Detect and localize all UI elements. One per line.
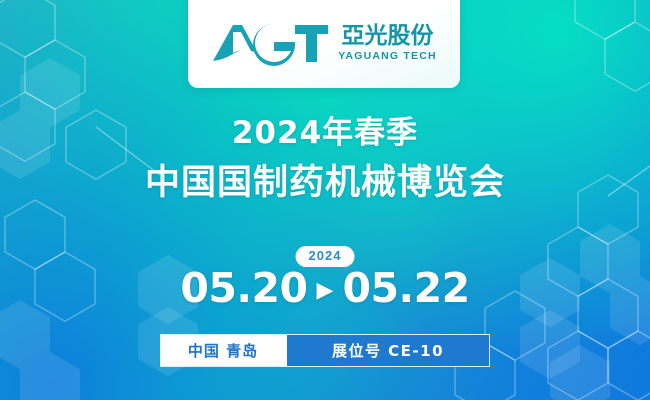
title-line-2: 中国国制药机械博览会 [0, 166, 650, 201]
location-label: 中国 青岛 [161, 335, 285, 366]
company-logo-card: 亞光股份 YAGUANG TECH [188, 0, 460, 88]
date-end: 05.22 [342, 268, 469, 309]
booth-number-label: 展位号 CE-10 [285, 335, 489, 366]
exhibition-banner: 亞光股份 YAGUANG TECH 2024年春季 中国国制药机械博览会 202… [0, 0, 650, 400]
date-range: 05.20 ▶ 05.22 [0, 268, 650, 309]
logo-company-name-cn: 亞光股份 [341, 25, 433, 48]
title-line-1: 2024年春季 [0, 118, 650, 149]
venue-info-bar: 中国 青岛 展位号 CE-10 [160, 334, 490, 367]
logo-company-name-en: YAGUANG TECH [338, 51, 437, 62]
agt-logo-icon [211, 20, 329, 66]
arrow-right-icon: ▶ [317, 279, 334, 301]
banner-title-block: 2024年春季 中国国制药机械博览会 [0, 118, 650, 201]
date-start: 05.20 [180, 268, 307, 309]
